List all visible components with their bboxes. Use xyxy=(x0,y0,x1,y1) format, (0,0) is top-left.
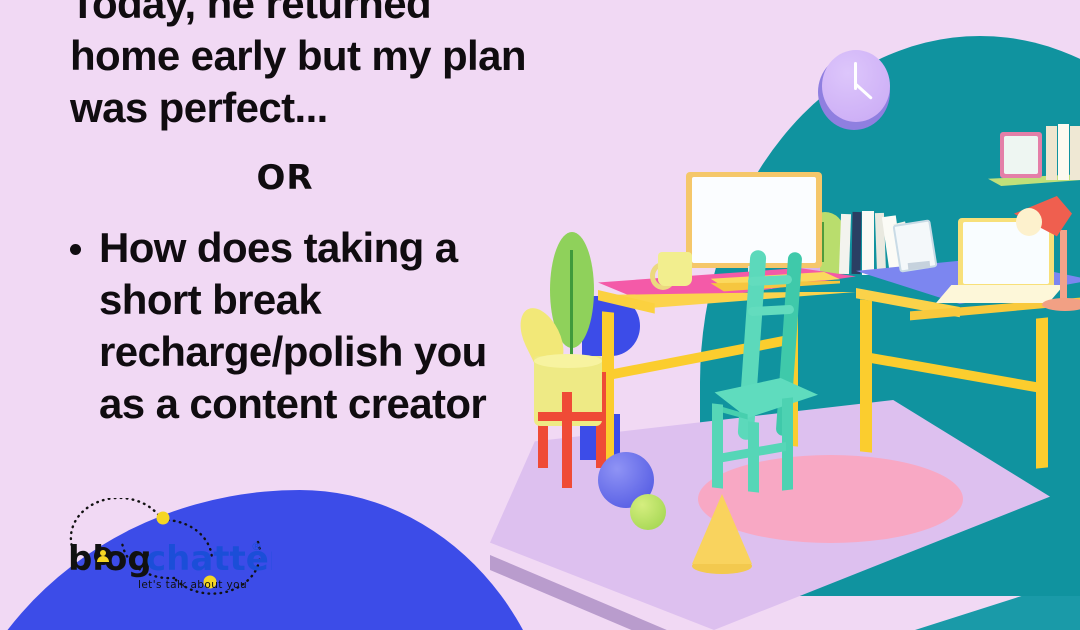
blogchatter-logo[interactable]: blog chatter ® let's talk about you xyxy=(62,498,272,598)
logo-dot-top xyxy=(157,512,170,525)
logo-person-head-icon xyxy=(100,550,106,556)
yellow-cone xyxy=(692,494,752,564)
book xyxy=(851,212,861,274)
bullet-text: How does taking a short break recharge/p… xyxy=(99,222,487,430)
bullet-dot-icon xyxy=(70,244,81,255)
shelf-book xyxy=(1070,126,1080,180)
lamp-pole xyxy=(1060,230,1067,304)
shelf-book xyxy=(1046,126,1057,180)
chair-leg xyxy=(712,403,723,488)
bullet-item: How does taking a short break recharge/p… xyxy=(70,222,590,430)
green-sphere xyxy=(630,494,666,530)
logo-tagline: let's talk about you xyxy=(138,579,247,591)
picture-frame-inner xyxy=(1004,136,1038,174)
shelf-book xyxy=(1058,124,1069,180)
blue-desk-leg xyxy=(860,299,872,452)
lamp-base xyxy=(1042,298,1080,311)
lamp-bulb xyxy=(1016,208,1042,236)
book xyxy=(862,211,874,275)
logo-registered-icon: ® xyxy=(251,540,262,553)
headline-text: Today, he returned home early but my pla… xyxy=(70,0,590,134)
book xyxy=(839,214,851,274)
coffee-mug-icon xyxy=(658,252,692,286)
shelf-plant-stem xyxy=(822,222,824,262)
blue-desk-rail xyxy=(868,352,1044,393)
slide-copy: Today, he returned home early but my pla… xyxy=(70,0,590,430)
divider-or-label: OR xyxy=(70,158,500,198)
slide-canvas: Today, he returned home early but my pla… xyxy=(0,0,1080,630)
